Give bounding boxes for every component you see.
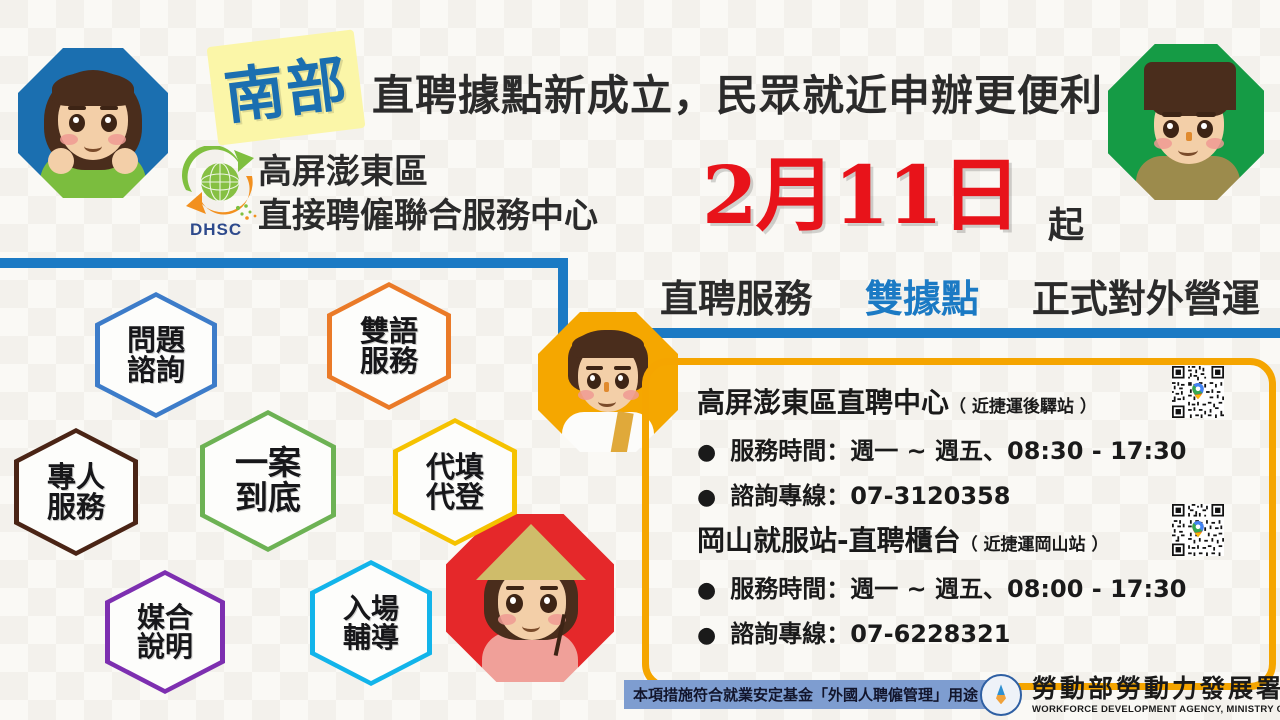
- location-hours: ● 服務時間：週一 ~ 週五、08:00 - 17:30: [697, 569, 1257, 604]
- slogan: 直聘服務 雙據點 正式對外營運: [660, 268, 1260, 323]
- feature-hex-form-filling-assist: 代填 代登: [393, 418, 517, 546]
- agency-names: 勞動部勞動力發展署 WORKFORCE DEVELOPMENT AGENCY, …: [1032, 675, 1280, 716]
- qr-code-map-kaohsiung[interactable]: [1172, 366, 1224, 418]
- center-name-line2: 直接聘僱聯合服務中心: [258, 194, 598, 238]
- qr-code-map-gangshan[interactable]: [1172, 504, 1224, 556]
- feature-hex-one-case-end-to-end: 一案 到底: [200, 410, 336, 552]
- avatar-girl-taiwan: [18, 48, 168, 198]
- agency-name-en: WORKFORCE DEVELOPMENT AGENCY, MINISTRY O…: [1032, 705, 1280, 715]
- feature-label: 專人 服務: [47, 462, 105, 523]
- poster-canvas: 南部 直聘據點新成立，民眾就近申辦更便利 DHSC 高屏澎東區 直接聘僱聯合服務…: [0, 0, 1280, 720]
- feature-hex-dedicated-staff: 專人 服務: [14, 428, 138, 556]
- agency-seal-icon: [980, 674, 1022, 716]
- divider-rule-right-horizontal: [648, 328, 1280, 338]
- feature-hex-problem-consult: 問題 諮詢: [95, 292, 217, 418]
- page-title: 直聘據點新成立，民眾就近申辦更便利: [372, 62, 1103, 123]
- feature-label: 問題 諮詢: [127, 325, 185, 386]
- bullet-icon: ●: [697, 625, 716, 647]
- feature-label: 入場 輔導: [343, 594, 399, 653]
- center-name: 高屏澎東區 直接聘僱聯合服務中心: [258, 150, 598, 238]
- location-hours: ● 服務時間：週一 ~ 週五、08:30 - 17:30: [697, 431, 1257, 466]
- agency-name-zh: 勞動部勞動力發展署: [1032, 675, 1280, 703]
- feature-label: 媒合 說明: [137, 603, 193, 662]
- feature-label: 雙語 服務: [360, 316, 418, 377]
- feature-hex-bilingual-service: 雙語 服務: [327, 282, 451, 410]
- dhsc-logo: DHSC: [176, 146, 264, 242]
- dhsc-wordmark: DHSC: [190, 220, 242, 240]
- location-phone: ● 諮詢專線：07-6228321: [697, 614, 1257, 649]
- feature-hex-matching-briefing: 媒合 說明: [105, 570, 225, 694]
- location-nearby: （ 近捷運後驛站 ）: [949, 397, 1097, 417]
- feature-label: 代填 代登: [426, 452, 484, 513]
- avatar-man-indonesia: [1108, 44, 1264, 200]
- launch-date: 2月11日: [702, 152, 1019, 238]
- slogan-highlight: 雙據點: [865, 277, 979, 321]
- slogan-suffix: 正式對外營運: [1032, 277, 1260, 321]
- center-name-line1: 高屏澎東區: [258, 150, 598, 194]
- feature-hex-on-site-guidance: 入場 輔導: [310, 560, 432, 686]
- divider-rule-left-horizontal: [0, 258, 568, 268]
- bullet-icon: ●: [697, 442, 716, 464]
- region-tag: 南部: [207, 29, 366, 145]
- feature-label: 一案 到底: [235, 446, 301, 515]
- launch-date-suffix: 起: [1048, 196, 1084, 248]
- bullet-icon: ●: [697, 487, 716, 509]
- bullet-icon: ●: [697, 580, 716, 602]
- footer-note: 本項措施符合就業安定基金「外國人聘僱管理」用途: [624, 680, 987, 709]
- agency-logo-block: 勞動部勞動力發展署 WORKFORCE DEVELOPMENT AGENCY, …: [980, 674, 1280, 716]
- location-nearby: （ 近捷運岡山站 ）: [961, 535, 1109, 555]
- slogan-prefix: 直聘服務: [660, 277, 812, 321]
